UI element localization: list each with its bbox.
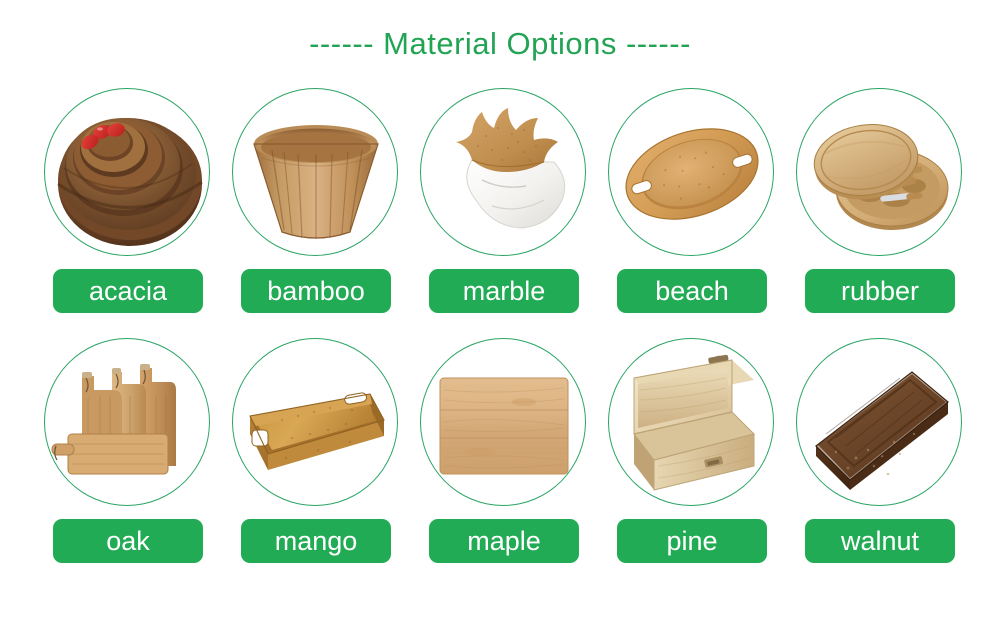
material-card-marble[interactable]: marble bbox=[410, 88, 598, 258]
material-label-marble[interactable]: marble bbox=[429, 269, 579, 313]
thumbnail-circle-outline bbox=[796, 338, 962, 506]
thumbnail-circle-outline bbox=[232, 338, 398, 506]
thumbnail-frame bbox=[796, 88, 964, 258]
material-card-bamboo[interactable]: bamboo bbox=[222, 88, 410, 258]
material-card-oak[interactable]: oak bbox=[34, 338, 222, 508]
material-card-beach[interactable]: beach bbox=[598, 88, 786, 258]
thumbnail-circle-outline bbox=[44, 88, 210, 256]
thumbnail-frame bbox=[44, 88, 212, 258]
material-label-mango[interactable]: mango bbox=[241, 519, 391, 563]
thumbnail-circle-outline bbox=[608, 338, 774, 506]
thumbnail-frame bbox=[796, 338, 964, 508]
thumbnail-frame bbox=[608, 88, 776, 258]
material-label-oak[interactable]: oak bbox=[53, 519, 203, 563]
material-label-acacia[interactable]: acacia bbox=[53, 269, 203, 313]
material-row-1: acacia bbox=[0, 88, 1000, 338]
material-label-maple[interactable]: maple bbox=[429, 519, 579, 563]
thumbnail-circle-outline bbox=[44, 338, 210, 506]
thumbnail-frame bbox=[232, 338, 400, 508]
material-label-beach[interactable]: beach bbox=[617, 269, 767, 313]
thumbnail-circle-outline bbox=[232, 88, 398, 256]
material-label-rubber[interactable]: rubber bbox=[805, 269, 955, 313]
thumbnail-circle-outline bbox=[796, 88, 962, 256]
material-grid: acacia bbox=[0, 88, 1000, 588]
thumbnail-frame bbox=[232, 88, 400, 258]
material-card-mango[interactable]: mango bbox=[222, 338, 410, 508]
material-row-2: oak bbox=[0, 338, 1000, 588]
material-card-maple[interactable]: maple bbox=[410, 338, 598, 508]
thumbnail-frame bbox=[608, 338, 776, 508]
thumbnail-frame bbox=[420, 338, 588, 508]
thumbnail-frame bbox=[420, 88, 588, 258]
material-card-acacia[interactable]: acacia bbox=[34, 88, 222, 258]
material-options-page: ------ Material Options ------ bbox=[0, 0, 1000, 634]
material-card-pine[interactable]: pine bbox=[598, 338, 786, 508]
material-card-walnut[interactable]: walnut bbox=[786, 338, 974, 508]
material-label-bamboo[interactable]: bamboo bbox=[241, 269, 391, 313]
page-title: ------ Material Options ------ bbox=[0, 26, 1000, 62]
material-label-walnut[interactable]: walnut bbox=[805, 519, 955, 563]
thumbnail-frame bbox=[44, 338, 212, 508]
thumbnail-circle-outline bbox=[420, 338, 586, 506]
material-label-pine[interactable]: pine bbox=[617, 519, 767, 563]
material-card-rubber[interactable]: rubber bbox=[786, 88, 974, 258]
thumbnail-circle-outline bbox=[608, 88, 774, 256]
thumbnail-circle-outline bbox=[420, 88, 586, 256]
